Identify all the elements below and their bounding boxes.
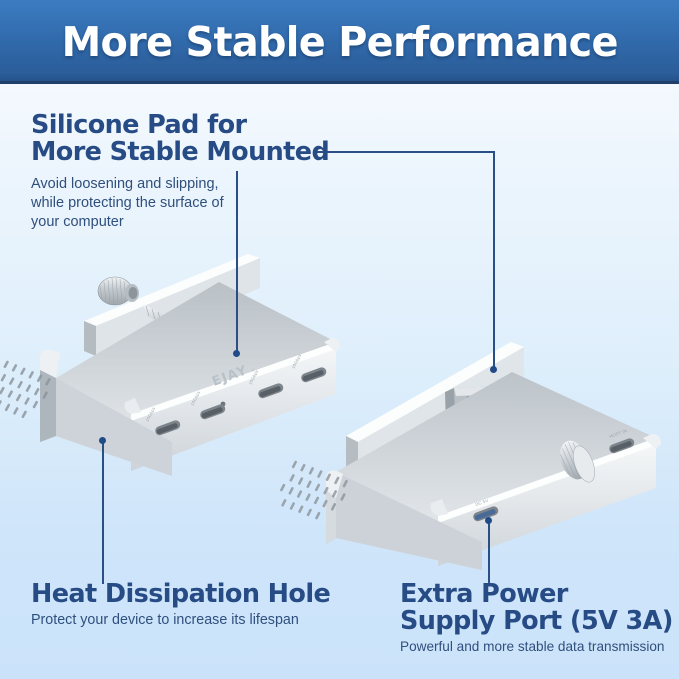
callout-heat-dissipation: Heat Dissipation Hole Protect your devic…: [31, 581, 371, 630]
callout-subtext: Protect your device to increase its life…: [31, 611, 371, 630]
callout-line-silicone-drop-right: [493, 151, 495, 369]
callout-subtext: Powerful and more stable data transmissi…: [400, 638, 679, 656]
header-banner: More Stable Performance: [0, 0, 679, 84]
callout-line-power: [488, 521, 490, 584]
callout-silicone-pad: Silicone Pad for More Stable Mounted Avo…: [31, 112, 361, 232]
callout-subtext: Avoid loosening and slipping, while prot…: [31, 175, 361, 232]
callout-heading: Extra Power Supply Port (5V 3A): [400, 581, 679, 635]
callout-dot-power: [485, 517, 492, 524]
callout-dot-heat: [99, 437, 106, 444]
callout-heading: Silicone Pad for More Stable Mounted: [31, 112, 361, 166]
device-right-clamp-hub: HOST IN DC 5V: [326, 338, 666, 568]
callout-dot-silicone-left: [233, 350, 240, 357]
thumbscrew-head-left: [98, 277, 139, 305]
body-right: [326, 372, 661, 570]
callout-heading: Heat Dissipation Hole: [31, 581, 371, 608]
infographic-page: More Stable Performance: [0, 0, 679, 679]
callout-dot-silicone-right: [490, 366, 497, 373]
callout-line-heat: [102, 441, 104, 584]
device-left-clamp-hub: EJAY ® 10Gbps 10Gbps 10Gbps: [36, 246, 366, 506]
callout-extra-power: Extra Power Supply Port (5V 3A) Powerful…: [400, 581, 679, 656]
page-title: More Stable Performance: [61, 18, 617, 66]
